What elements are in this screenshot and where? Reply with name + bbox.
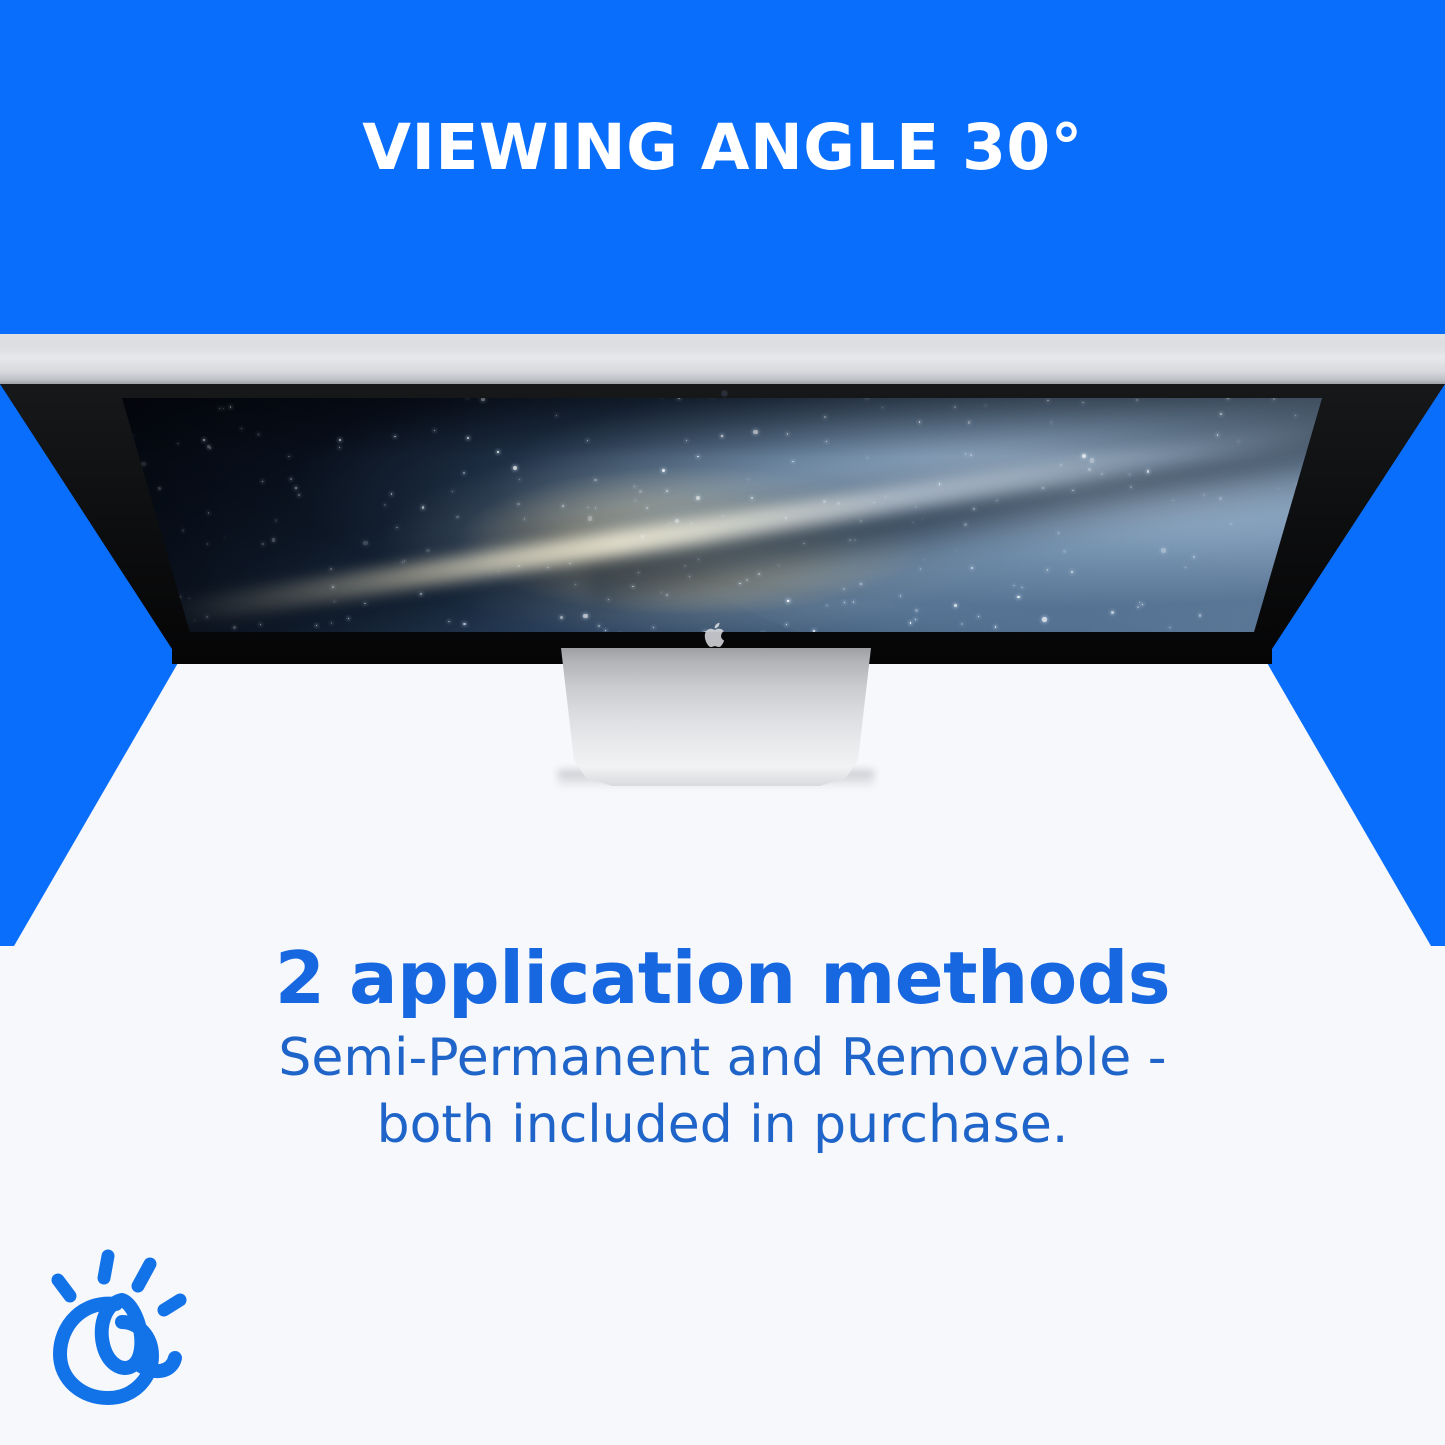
webcam-icon xyxy=(722,391,727,396)
copy-subtitle-line-1: Semi-Permanent and Removable - xyxy=(0,1025,1445,1092)
logo-spark-3 xyxy=(58,1280,70,1296)
monitor xyxy=(0,334,1445,664)
monitor-top-bezel xyxy=(0,334,1445,384)
logo-spark-2 xyxy=(138,1264,150,1286)
header-band: VIEWING ANGLE 30° xyxy=(0,0,1445,334)
apple-logo-icon xyxy=(703,621,729,649)
copy-headline: 2 application methods xyxy=(0,942,1445,1015)
monitor-stand xyxy=(558,648,874,786)
feature-copy: 2 application methods Semi-Permanent and… xyxy=(0,942,1445,1159)
page-title: VIEWING ANGLE 30° xyxy=(0,116,1445,179)
copy-subtitle-line-2: both included in purchase. xyxy=(0,1092,1445,1159)
waving-hand-logo xyxy=(42,1248,192,1408)
copy-subtitle: Semi-Permanent and Removable - both incl… xyxy=(0,1025,1445,1158)
bezel-gloss xyxy=(0,334,1445,348)
product-feature-card: VIEWING ANGLE 30° 2 application methods xyxy=(0,0,1445,1445)
logo-spark-4 xyxy=(164,1300,180,1310)
logo-spark-1 xyxy=(104,1256,108,1278)
